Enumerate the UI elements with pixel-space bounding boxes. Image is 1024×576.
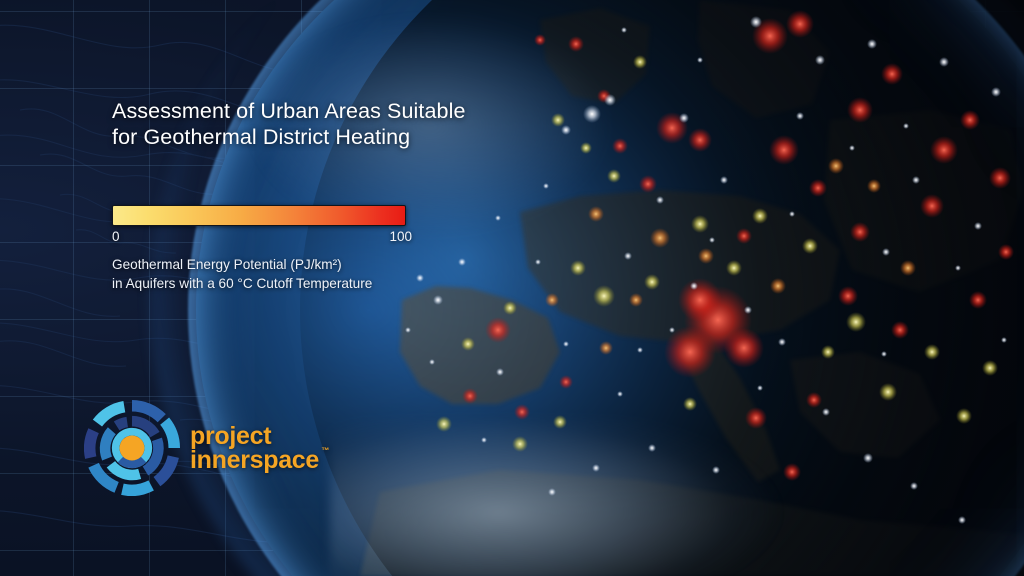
innerspace-mark-icon [84,400,180,496]
colorbar-scale: 0 100 [112,229,408,247]
legend-panel: Assessment of Urban Areas Suitable for G… [112,72,532,293]
legend-caption-line1: Geothermal Energy Potential (PJ/km²) [112,256,532,275]
colorbar-group: 0 100 Geothermal Energy Potential (PJ/km… [112,205,532,293]
trademark-symbol: ™ [321,447,329,455]
page-title-line1: Assessment of Urban Areas Suitable [112,99,466,123]
page-title: Assessment of Urban Areas Suitable for G… [112,72,532,176]
legend-caption: Geothermal Energy Potential (PJ/km²) in … [112,256,532,293]
legend-caption-line2: in Aquifers with a 60 °C Cutoff Temperat… [112,275,532,294]
project-innerspace-logo: project innerspace ™ [84,400,319,496]
colorbar-gradient [112,205,406,226]
colorbar-max-label: 100 [389,229,412,244]
page-title-line2: for Geothermal District Heating [112,124,532,150]
logo-wordmark-line1: project [190,424,319,449]
colorbar-min-label: 0 [112,229,120,244]
infographic-canvas: Assessment of Urban Areas Suitable for G… [0,0,1024,576]
logo-wordmark-line2: innerspace [190,448,319,473]
logo-wordmark: project innerspace ™ [190,424,319,473]
